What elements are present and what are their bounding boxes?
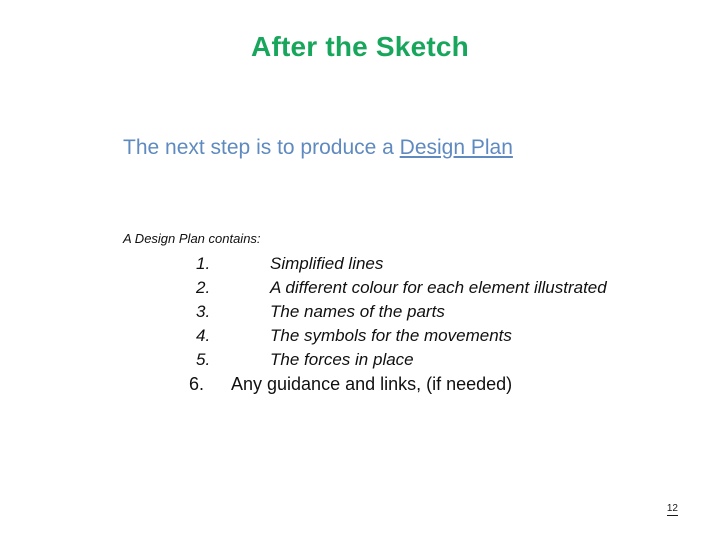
- list-item-label: The forces in place: [270, 348, 414, 372]
- subtitle-lead-text: The next step is to produce a: [123, 136, 400, 159]
- list-item-label: The names of the parts: [270, 300, 445, 324]
- list-item-number: 6.: [189, 372, 231, 397]
- list-item: 5. The forces in place: [0, 348, 720, 372]
- list-item: 2. A different colour for each element i…: [0, 276, 720, 300]
- list-item-number: 2.: [196, 276, 270, 300]
- list-item: 4. The symbols for the movements: [0, 324, 720, 348]
- list-item-number: 4.: [196, 324, 270, 348]
- list-item: 6. Any guidance and links, (if needed): [0, 372, 720, 396]
- list-item-number: 1.: [196, 252, 270, 276]
- list-item-label: The symbols for the movements: [270, 324, 512, 348]
- list-item-label: A different colour for each element illu…: [270, 276, 607, 300]
- list-item-label: Simplified lines: [270, 252, 383, 276]
- page-title: After the Sketch: [0, 30, 720, 64]
- slide-canvas: After the Sketch The next step is to pro…: [0, 0, 720, 540]
- list-item-number: 3.: [196, 300, 270, 324]
- page-number: 12: [667, 503, 678, 516]
- list-item: 1. Simplified lines: [0, 252, 720, 276]
- design-plan-list: 1. Simplified lines 2. A different colou…: [0, 252, 720, 396]
- list-item-label: Any guidance and links, (if needed): [231, 372, 512, 397]
- body-intro-text: A Design Plan contains:: [123, 230, 261, 247]
- list-item-number: 5.: [196, 348, 270, 372]
- subtitle-emphasis-design-plan: Design Plan: [400, 136, 513, 159]
- list-item: 3. The names of the parts: [0, 300, 720, 324]
- subtitle-line: The next step is to produce a Design Pla…: [123, 134, 513, 161]
